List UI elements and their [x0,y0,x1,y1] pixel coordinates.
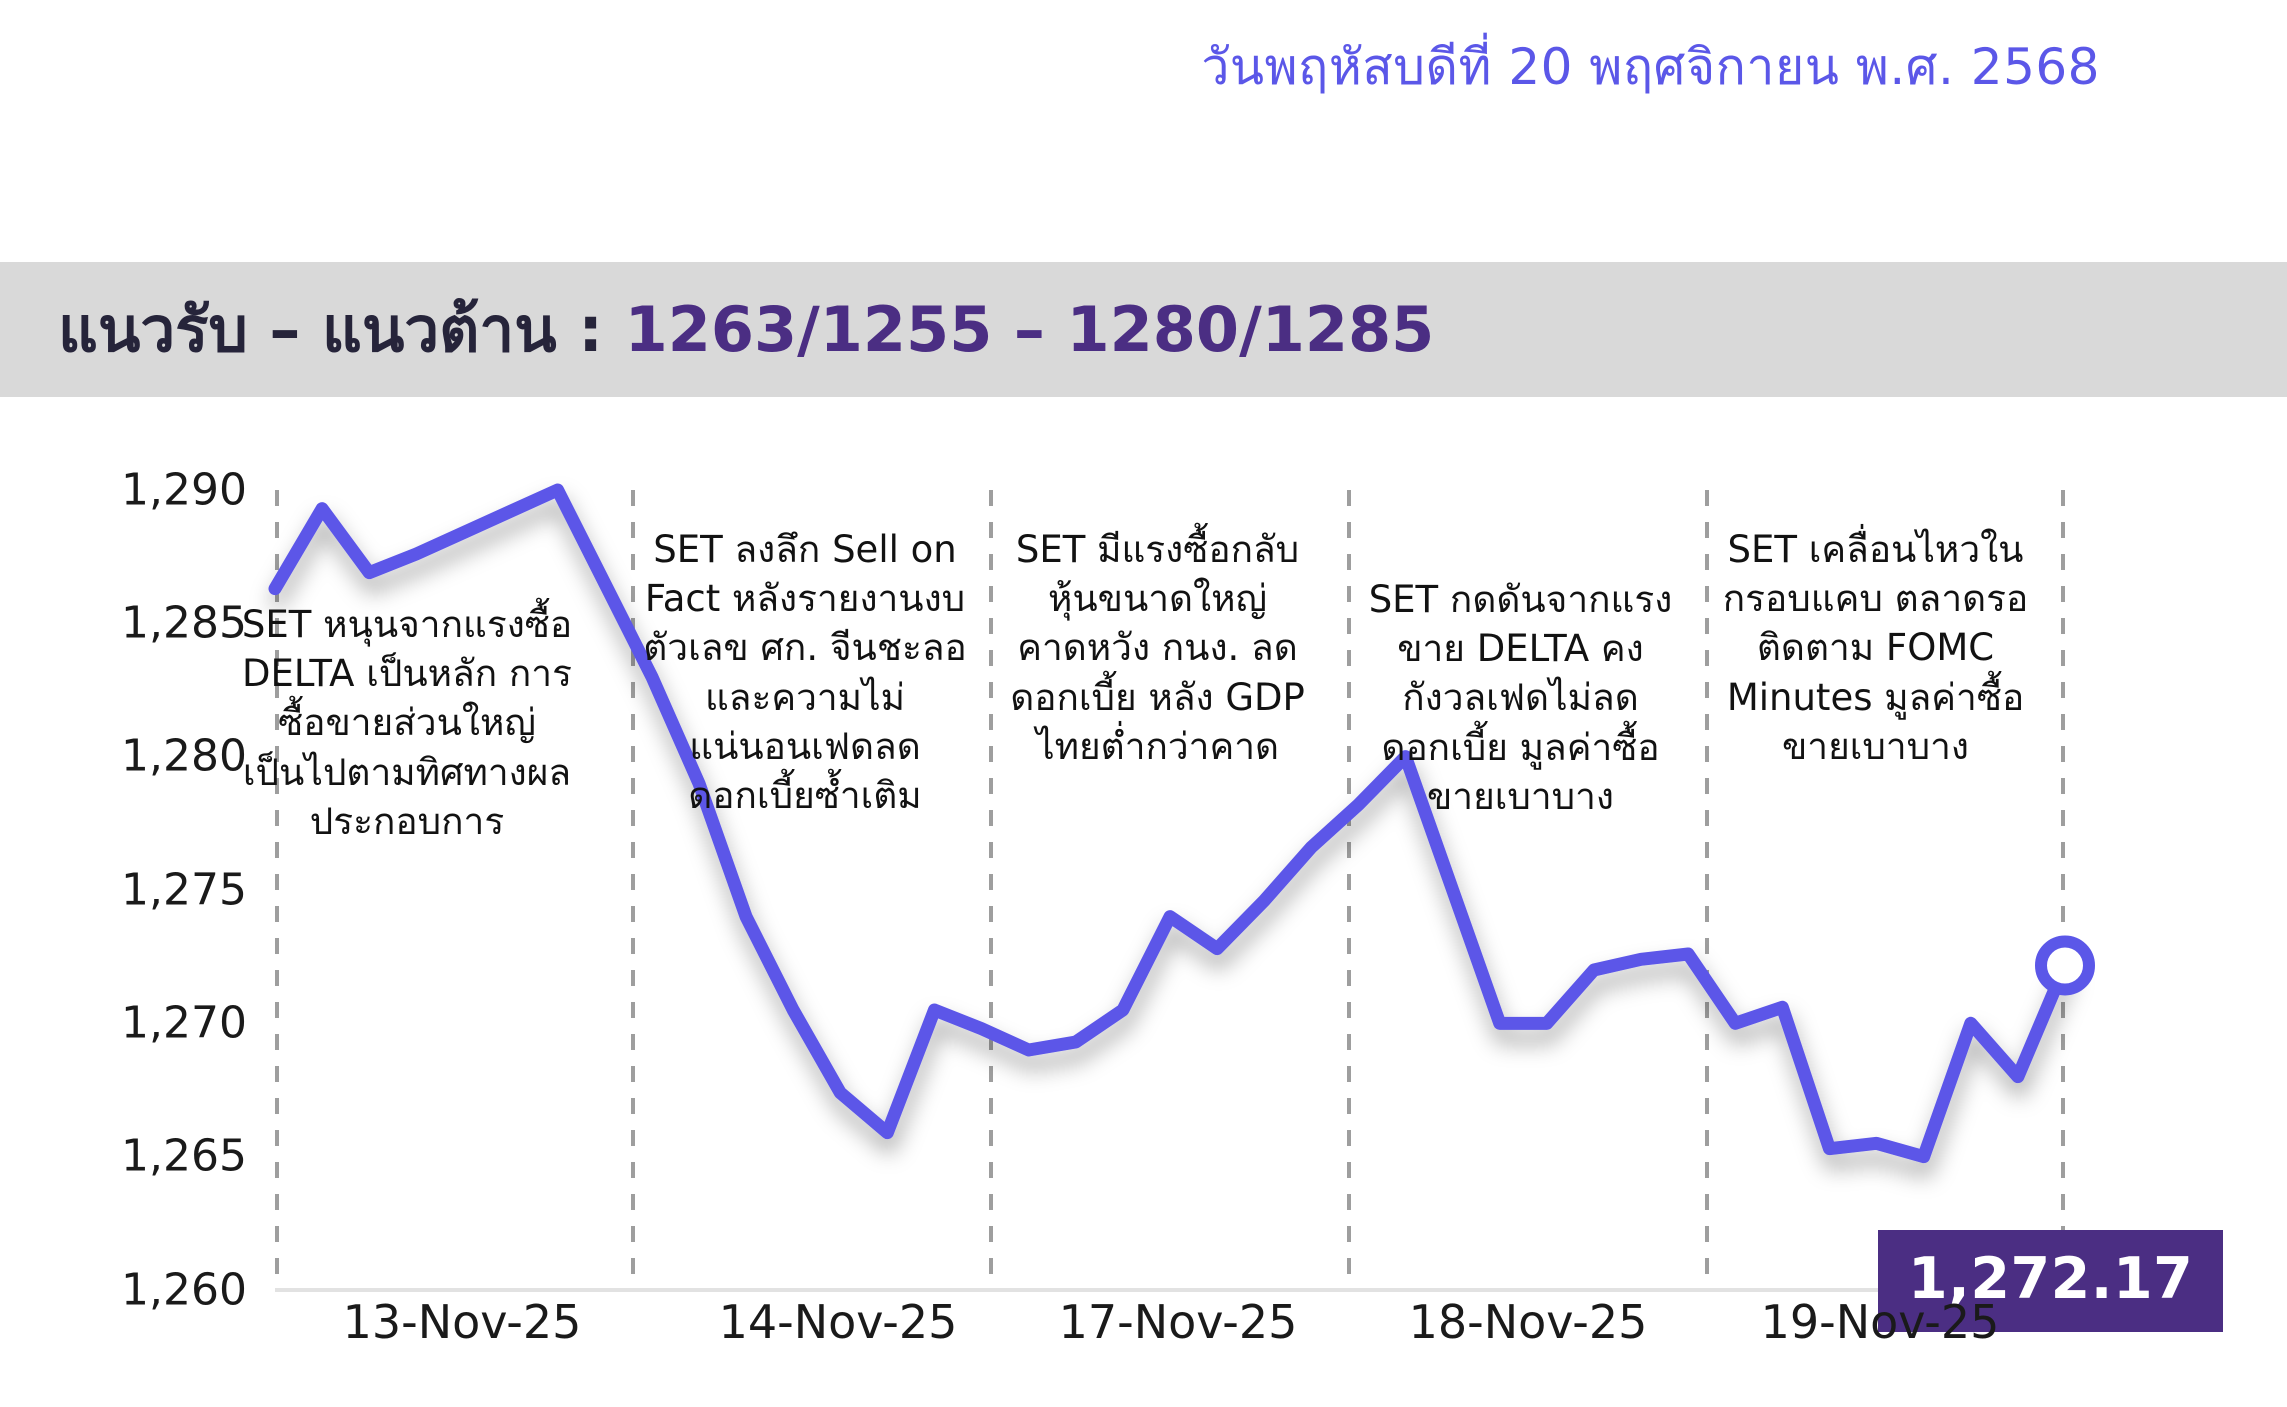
y-axis-tick: 1,265 [27,1131,247,1182]
support-resistance-values: 1263/1255 – 1280/1285 [625,293,1435,366]
page-title: แนวรับ – แนวต้าน : 1263/1255 – 1280/1285 [0,281,1434,379]
x-axis-tick: 14-Nov-25 [719,1295,958,1349]
x-axis-tick: 13-Nov-25 [343,1295,582,1349]
header-date: วันพฤหัสบดีที่ 20 พฤศจิกายน พ.ศ. 2568 [0,40,2100,95]
x-axis-tick: 17-Nov-25 [1059,1295,1298,1349]
y-axis-tick: 1,260 [27,1265,247,1316]
annotation-day-1: SET หนุนจากแรงซื้อ DELTA เป็นหลัก การ ซื… [212,600,602,846]
page-title-label: แนวรับ – แนวต้าน : [58,293,625,366]
annotation-day-2: SET ลงลึก Sell on Fact หลังรายงานงบ ตัวเ… [640,525,970,820]
y-axis-tick: 1,270 [27,998,247,1049]
annotation-day-3: SET มีแรงซื้อกลับ หุ้นขนาดใหญ่ คาดหวัง ก… [1000,525,1315,771]
x-axis-tick: 19-Nov-25 [1761,1295,2000,1349]
y-axis-tick: 1,290 [27,465,247,516]
support-resistance-band: แนวรับ – แนวต้าน : 1263/1255 – 1280/1285 [0,262,2287,397]
set-index-line-chart: 1,290 1,285 1,280 1,275 1,270 1,265 1,26… [0,430,2287,1300]
annotation-day-5: SET เคลื่อนไหวใน กรอบแคบ ตลาดรอ ติดตาม F… [1718,525,2033,771]
y-axis-tick: 1,275 [27,865,247,916]
last-value-marker [2041,941,2089,989]
annotation-day-4: SET กดดันจากแรง ขาย DELTA คง กังวลเฟดไม่… [1358,575,1683,821]
x-axis-tick: 18-Nov-25 [1409,1295,1648,1349]
